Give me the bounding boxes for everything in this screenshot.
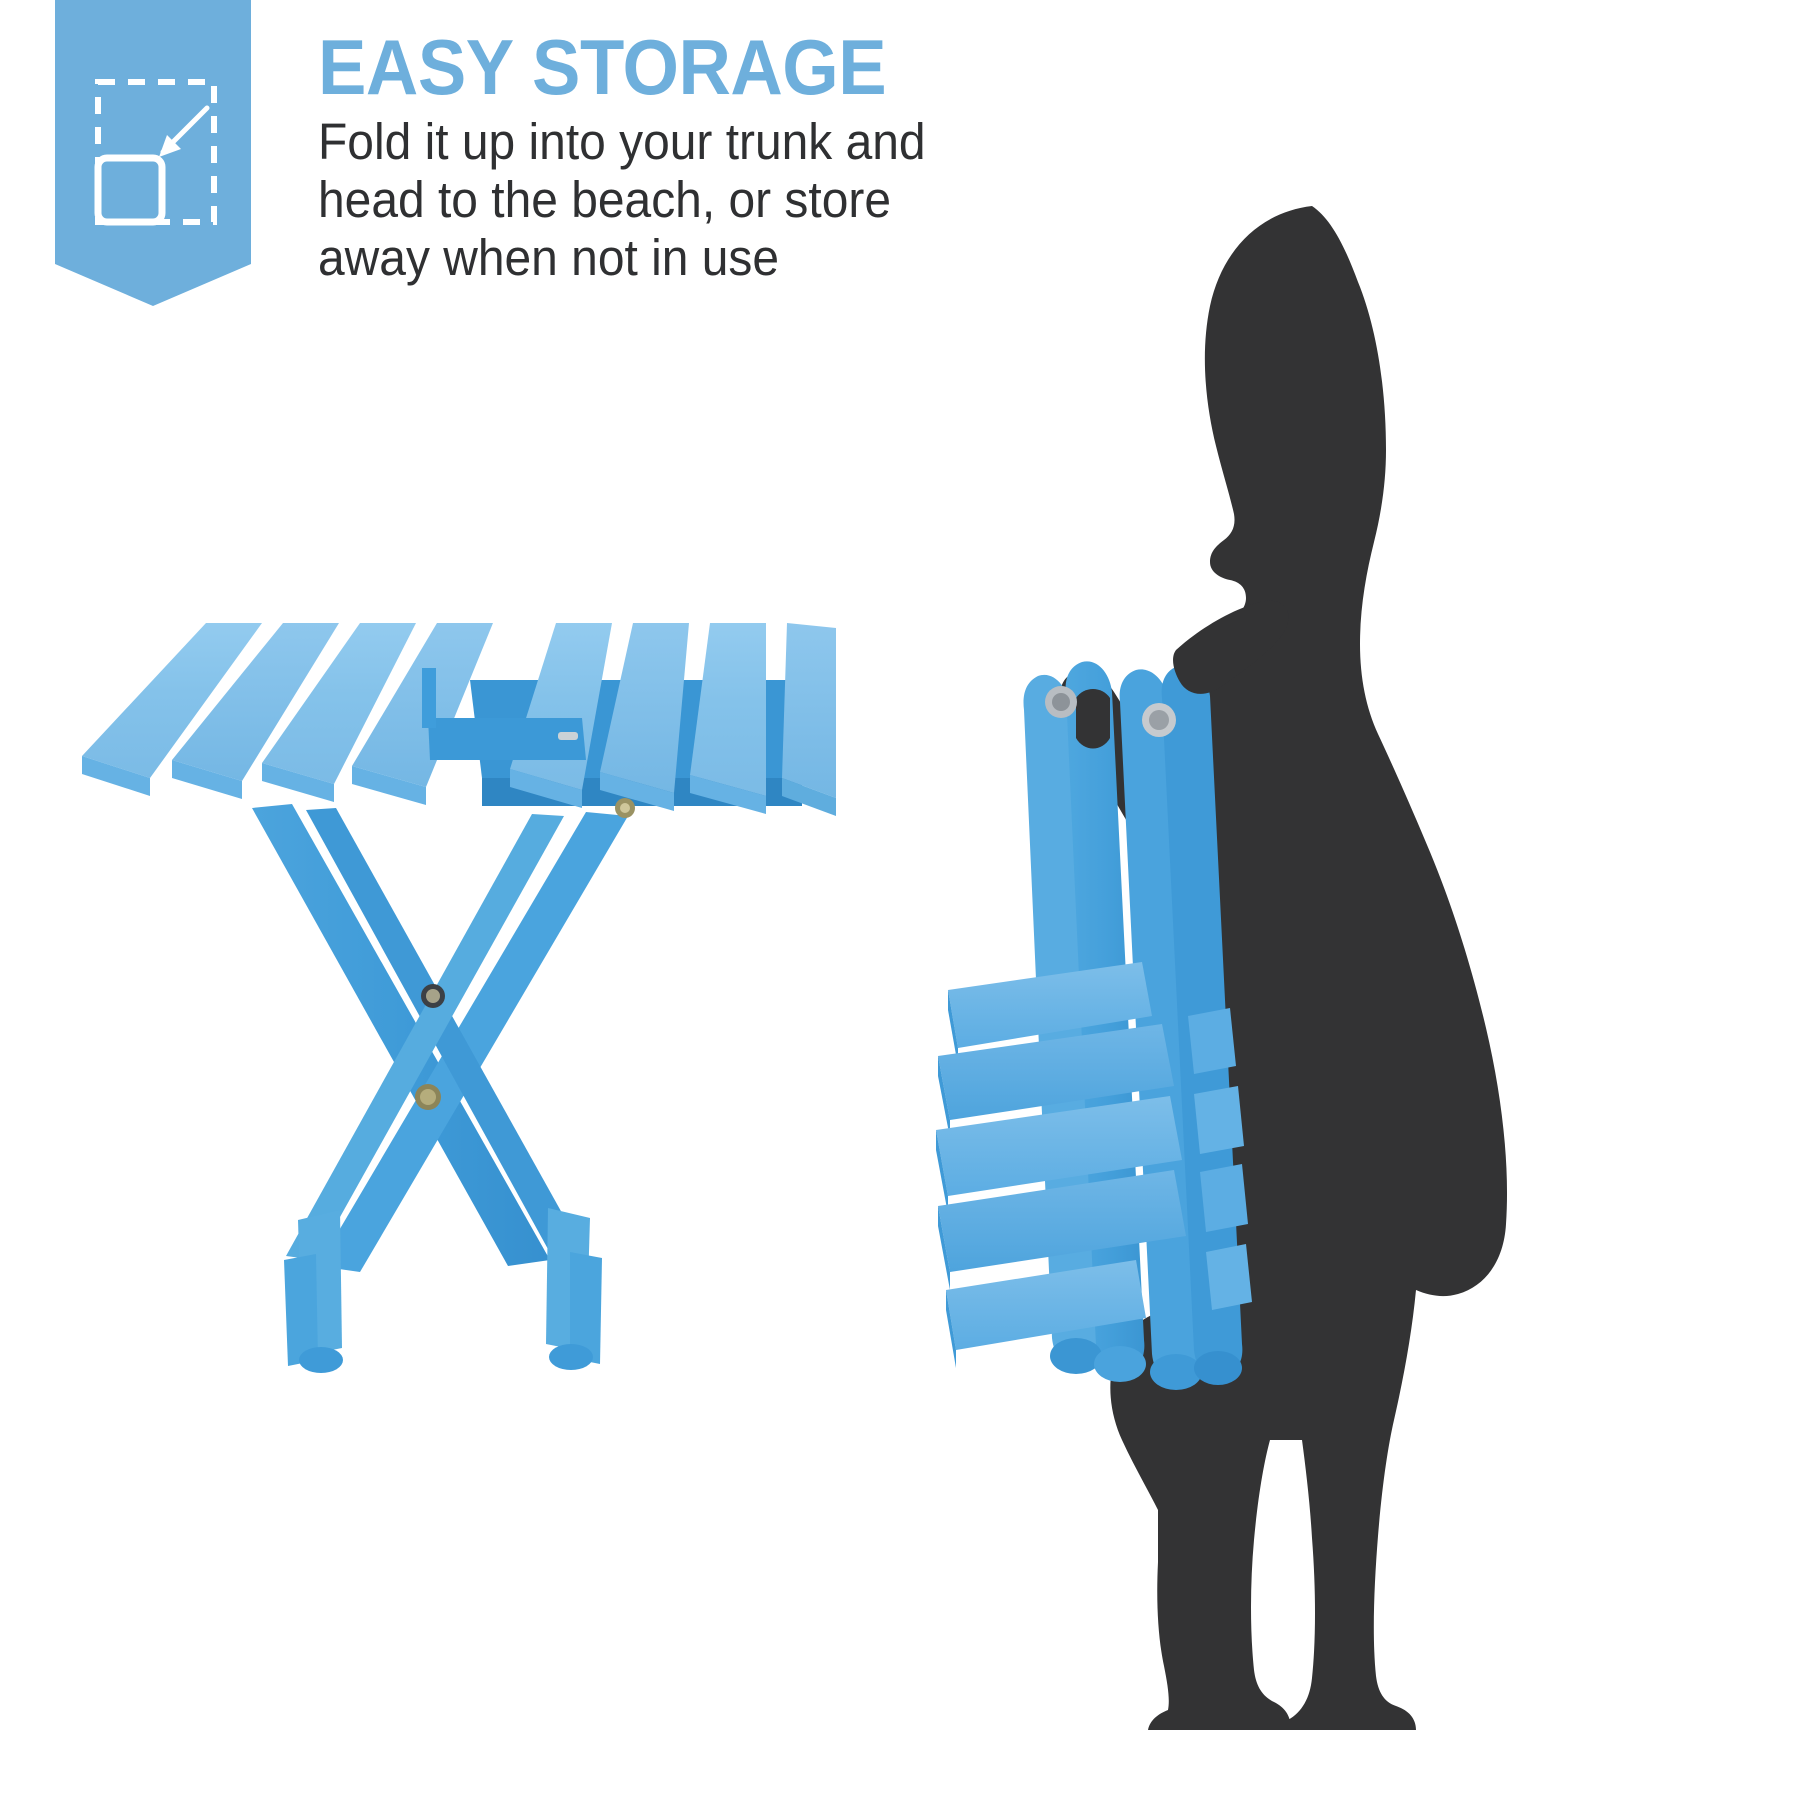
product-photo-unfolded-table	[30, 560, 870, 1410]
dashed-outline-square	[98, 82, 214, 222]
infographic-canvas: EASY STORAGE Fold it up into your trunk …	[0, 0, 1800, 1800]
table-slat	[782, 623, 836, 798]
folded-foot	[1050, 1338, 1102, 1374]
folded-foot	[1150, 1354, 1202, 1390]
folded-foot	[1194, 1351, 1242, 1385]
page-title: EASY STORAGE	[318, 30, 1062, 105]
diagonal-inward-arrow	[159, 108, 207, 157]
solid-rounded-square	[98, 158, 162, 222]
table-slat	[690, 623, 766, 796]
folded-table	[936, 661, 1252, 1390]
person-carrying-folded-table	[930, 110, 1750, 1730]
bolt-icon	[558, 732, 578, 740]
fold-shrink-icon	[55, 0, 251, 306]
handle-gap	[1076, 689, 1110, 749]
feature-banner	[55, 0, 251, 306]
table-leg-frame	[252, 804, 628, 1373]
folded-foot	[1094, 1346, 1146, 1382]
